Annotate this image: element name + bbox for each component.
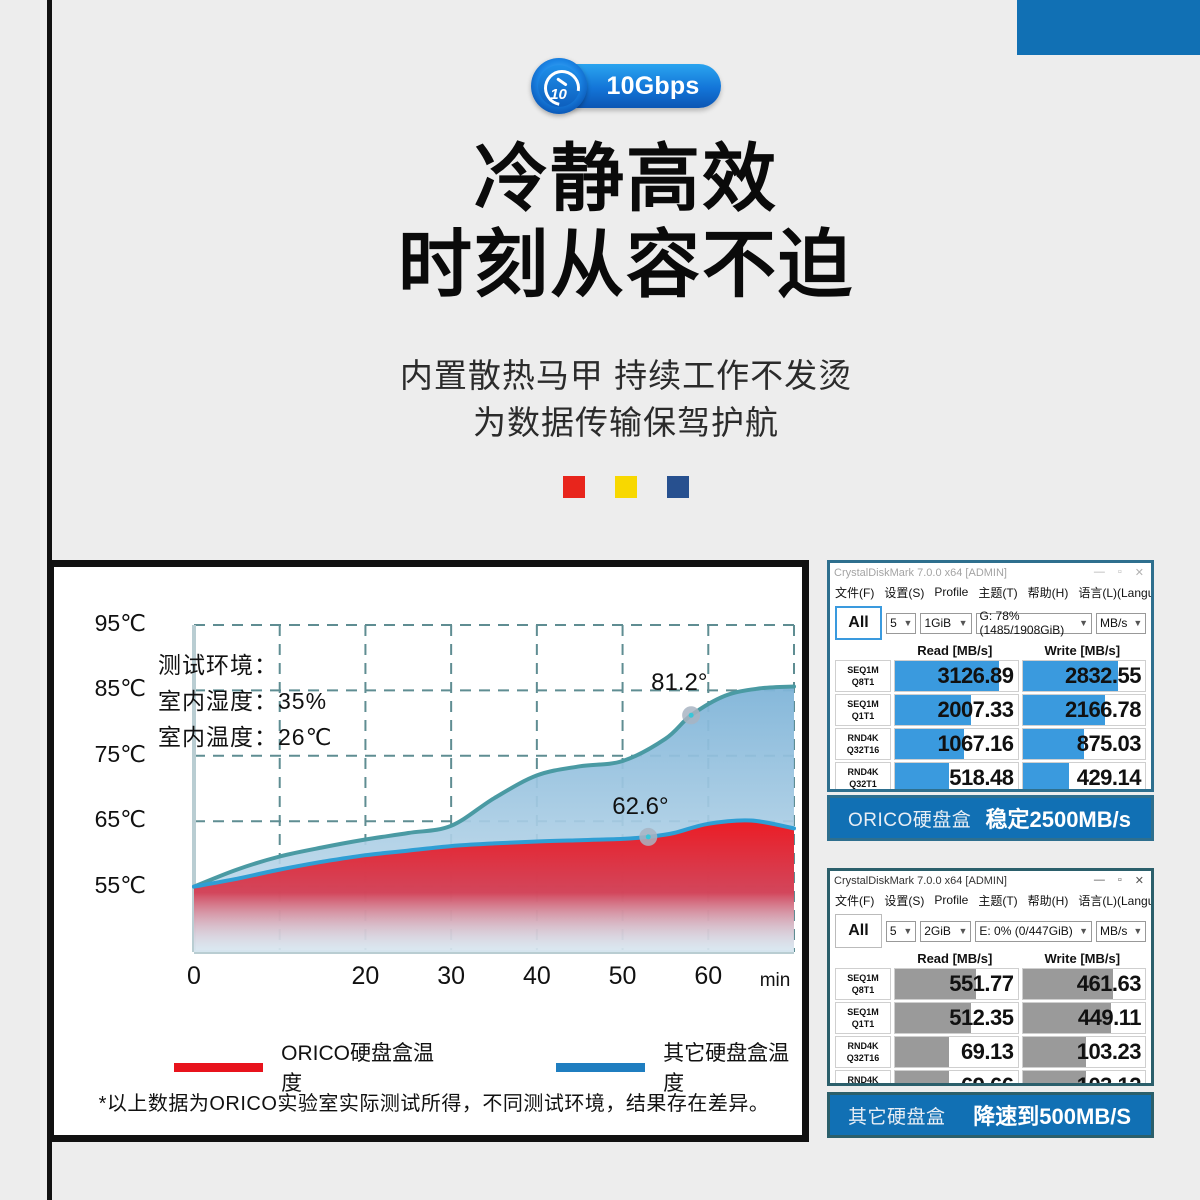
result-bar bbox=[895, 763, 949, 792]
write-result-cell[interactable]: 461.63 bbox=[1022, 968, 1147, 1000]
row-label-bottom: Q8T1 bbox=[852, 676, 875, 688]
read-value: 518.48 bbox=[949, 763, 1013, 792]
badge-number: 10 bbox=[538, 65, 580, 107]
row-label-top: SEQ1M bbox=[847, 972, 879, 984]
chevron-down-icon: ▼ bbox=[1133, 618, 1142, 628]
result-banner-1: ORICO硬盘盒稳定2500MB/s bbox=[827, 795, 1154, 841]
result-bar bbox=[1023, 763, 1070, 792]
column-header-read: Read [MB/s] bbox=[891, 951, 1019, 966]
swatch-yellow bbox=[615, 476, 637, 498]
x-axis-unit: min bbox=[760, 970, 791, 992]
chevron-down-icon: ▼ bbox=[959, 618, 968, 628]
menu-item-2[interactable]: Profile bbox=[934, 893, 968, 907]
unit-select[interactable]: MB/s▼ bbox=[1096, 613, 1146, 634]
benchmark-row: SEQ1MQ8T1551.77461.63 bbox=[835, 968, 1146, 1000]
row-label-top: RND4K bbox=[847, 732, 878, 744]
write-result-cell[interactable]: 2166.78 bbox=[1022, 694, 1147, 726]
write-value: 103.23 bbox=[1077, 1037, 1141, 1067]
row-label-bottom: Q32T1 bbox=[849, 778, 877, 790]
menu-item-0[interactable]: 文件(F) bbox=[835, 892, 874, 909]
test-environment-note: 测试环境： 室内湿度：35% 室内温度：26℃ bbox=[158, 647, 332, 755]
size-select[interactable]: 1GiB▼ bbox=[920, 613, 971, 634]
header-spacer bbox=[835, 643, 891, 658]
chevron-down-icon: ▼ bbox=[904, 618, 913, 628]
window-body: All5▼2GiB▼E: 0% (0/447GiB)▼MB/s▼Read [MB… bbox=[830, 910, 1151, 1086]
subtitle-line-1: 内置散热马甲 持续工作不发烫 bbox=[52, 352, 1200, 399]
banner-left-label: 其它硬盘盒 bbox=[848, 1102, 946, 1129]
read-value: 512.35 bbox=[949, 1003, 1013, 1033]
x-tick-50: 50 bbox=[593, 962, 653, 991]
read-result-cell[interactable]: 518.48 bbox=[894, 762, 1019, 792]
header-spacer bbox=[835, 951, 891, 966]
menu-item-5[interactable]: 语言(L)(Language) bbox=[1078, 892, 1154, 909]
benchmark-row: RND4KQ32T1669.13103.23 bbox=[835, 1036, 1146, 1068]
speed-badge: 10 10Gbps bbox=[531, 58, 722, 114]
write-value: 461.63 bbox=[1077, 969, 1141, 999]
write-result-cell[interactable]: 429.14 bbox=[1022, 762, 1147, 792]
menu-item-4[interactable]: 帮助(H) bbox=[1028, 892, 1069, 909]
row-label-bottom: Q32T16 bbox=[847, 744, 880, 756]
x-tick-30: 30 bbox=[421, 962, 481, 991]
count-select[interactable]: 5▼ bbox=[886, 921, 916, 942]
write-value: 429.14 bbox=[1077, 763, 1141, 792]
read-result-cell[interactable]: 1067.16 bbox=[894, 728, 1019, 760]
unit-select-value: MB/s bbox=[1100, 616, 1127, 630]
speed-badge-label: 10Gbps bbox=[607, 72, 700, 101]
read-value: 3126.89 bbox=[937, 661, 1013, 691]
write-result-cell[interactable]: 2832.55 bbox=[1022, 660, 1147, 692]
size-select[interactable]: 2GiB▼ bbox=[920, 921, 971, 942]
chevron-down-icon: ▼ bbox=[1133, 926, 1142, 936]
row-label: RND4KQ32T1 bbox=[835, 762, 891, 792]
write-result-cell[interactable]: 103.12 bbox=[1022, 1070, 1147, 1086]
read-result-cell[interactable]: 551.77 bbox=[894, 968, 1019, 1000]
result-bar bbox=[895, 1037, 949, 1067]
headline-line-1: 冷静高效 bbox=[52, 136, 1200, 222]
menu-item-1[interactable]: 设置(S) bbox=[884, 584, 924, 601]
read-result-cell[interactable]: 2007.33 bbox=[894, 694, 1019, 726]
row-label: RND4KQ32T1 bbox=[835, 1070, 891, 1086]
benchmark-row: RND4KQ32T161067.16875.03 bbox=[835, 728, 1146, 760]
count-select-value: 5 bbox=[890, 616, 897, 630]
data-label-orico: 62.6° bbox=[612, 793, 668, 821]
all-button[interactable]: All bbox=[835, 606, 882, 640]
row-label: SEQ1MQ8T1 bbox=[835, 660, 891, 692]
x-tick-60: 60 bbox=[678, 962, 738, 991]
row-label-top: SEQ1M bbox=[847, 698, 879, 710]
benchmark-row: SEQ1MQ1T12007.332166.78 bbox=[835, 694, 1146, 726]
legend-swatch bbox=[556, 1063, 645, 1072]
speed-badge-wrap: 10 10Gbps bbox=[52, 58, 1200, 114]
page-title: 冷静高效 时刻从容不迫 bbox=[52, 136, 1200, 308]
count-select-value: 5 bbox=[890, 924, 897, 938]
benchmark-row: RND4KQ32T169.66103.12 bbox=[835, 1070, 1146, 1086]
chevron-down-icon: ▼ bbox=[903, 926, 912, 936]
read-result-cell[interactable]: 69.66 bbox=[894, 1070, 1019, 1086]
benchmark-row: SEQ1MQ1T1512.35449.11 bbox=[835, 1002, 1146, 1034]
column-header-write: Write [MB/s] bbox=[1019, 951, 1147, 966]
color-swatches bbox=[52, 476, 1200, 498]
read-value: 551.77 bbox=[949, 969, 1013, 999]
row-label-top: RND4K bbox=[847, 1074, 878, 1086]
drive-select-value: G: 78% (1485/1908GiB) bbox=[980, 609, 1074, 637]
column-headers: Read [MB/s]Write [MB/s] bbox=[835, 951, 1146, 966]
swatch-blue bbox=[667, 476, 689, 498]
write-value: 2832.55 bbox=[1065, 661, 1141, 691]
row-label-top: SEQ1M bbox=[847, 664, 879, 676]
row-label-top: RND4K bbox=[847, 766, 878, 778]
chart-footnote: *以上数据为ORICO实验室实际测试所得，不同测试环境，结果存在差异。 bbox=[74, 1087, 794, 1116]
minimize-button[interactable]: — bbox=[1094, 874, 1105, 887]
chevron-down-icon: ▼ bbox=[1079, 926, 1088, 936]
row-label-bottom: Q32T16 bbox=[847, 1052, 880, 1064]
row-label-bottom: Q8T1 bbox=[852, 984, 875, 996]
size-select-value: 2GiB bbox=[924, 924, 951, 938]
chart-inner: 95℃85℃75℃65℃55℃ 测试环境： 室内湿度：35% 室内温度：26℃ … bbox=[54, 567, 802, 1135]
read-value: 1067.16 bbox=[937, 729, 1013, 759]
unit-select[interactable]: MB/s▼ bbox=[1096, 921, 1146, 942]
write-result-cell[interactable]: 449.11 bbox=[1022, 1002, 1147, 1034]
menu-item-5[interactable]: 语言(L)(Language) bbox=[1078, 584, 1154, 601]
row-label: SEQ1MQ1T1 bbox=[835, 1002, 891, 1034]
row-label-top: SEQ1M bbox=[847, 1006, 879, 1018]
window-body: All5▼1GiB▼G: 78% (1485/1908GiB)▼MB/s▼Rea… bbox=[830, 602, 1151, 792]
result-bar bbox=[1023, 729, 1084, 759]
minimize-button[interactable]: — bbox=[1094, 566, 1105, 579]
benchmark-row: SEQ1MQ8T13126.892832.55 bbox=[835, 660, 1146, 692]
note-line-2: 室内湿度：35% bbox=[158, 683, 332, 719]
note-line-1: 测试环境： bbox=[158, 647, 332, 683]
all-button[interactable]: All bbox=[835, 914, 882, 948]
page-subtitle: 内置散热马甲 持续工作不发烫 为数据传输保驾护航 bbox=[52, 352, 1200, 446]
x-tick-20: 20 bbox=[335, 962, 395, 991]
speedometer-icon: 10 bbox=[531, 58, 587, 114]
menu-item-3[interactable]: 主题(T) bbox=[978, 584, 1017, 601]
window-title-bar[interactable]: CrystalDiskMark 7.0.0 x64 [ADMIN]—▫✕ bbox=[830, 871, 1151, 890]
count-select[interactable]: 5▼ bbox=[886, 613, 916, 634]
maximize-button[interactable]: ▫ bbox=[1118, 874, 1122, 887]
write-value: 2166.78 bbox=[1065, 695, 1141, 725]
crystaldiskmark-window-1[interactable]: CrystalDiskMark 7.0.0 x64 [ADMIN]—▫✕文件(F… bbox=[827, 560, 1154, 792]
drive-select-value: E: 0% (0/447GiB) bbox=[979, 924, 1072, 938]
chart-plot bbox=[54, 567, 802, 987]
swatch-red bbox=[563, 476, 585, 498]
headline-line-2: 时刻从容不迫 bbox=[52, 222, 1200, 308]
row-label-bottom: Q1T1 bbox=[852, 1018, 875, 1030]
result-banner-2: 其它硬盘盒降速到500MB/S bbox=[827, 1092, 1154, 1138]
column-header-write: Write [MB/s] bbox=[1019, 643, 1147, 658]
row-label-bottom: Q1T1 bbox=[852, 710, 875, 722]
chevron-down-icon: ▼ bbox=[1079, 618, 1088, 628]
close-button[interactable]: ✕ bbox=[1135, 874, 1144, 887]
crystaldiskmark-window-2[interactable]: CrystalDiskMark 7.0.0 x64 [ADMIN]—▫✕文件(F… bbox=[827, 868, 1154, 1086]
size-select-value: 1GiB bbox=[924, 616, 951, 630]
close-button[interactable]: ✕ bbox=[1135, 566, 1144, 579]
benchmark-row: RND4KQ32T1518.48429.14 bbox=[835, 762, 1146, 792]
read-result-cell[interactable]: 3126.89 bbox=[894, 660, 1019, 692]
write-result-cell[interactable]: 875.03 bbox=[1022, 728, 1147, 760]
banner-accent-dot bbox=[1103, 801, 1137, 835]
row-label: SEQ1MQ1T1 bbox=[835, 694, 891, 726]
read-value: 69.66 bbox=[961, 1071, 1014, 1086]
window-title: CrystalDiskMark 7.0.0 x64 [ADMIN] bbox=[834, 567, 1094, 579]
chevron-down-icon: ▼ bbox=[958, 926, 967, 936]
column-headers: Read [MB/s]Write [MB/s] bbox=[835, 643, 1146, 658]
result-bar bbox=[895, 1071, 949, 1086]
write-value: 449.11 bbox=[1078, 1003, 1141, 1033]
write-value: 875.03 bbox=[1077, 729, 1141, 759]
legend-swatch bbox=[174, 1063, 263, 1072]
controls-row: All5▼1GiB▼G: 78% (1485/1908GiB)▼MB/s▼ bbox=[835, 606, 1146, 640]
x-tick-0: 0 bbox=[164, 962, 224, 991]
x-tick-40: 40 bbox=[507, 962, 567, 991]
drive-select[interactable]: G: 78% (1485/1908GiB)▼ bbox=[976, 613, 1093, 634]
read-result-cell[interactable]: 512.35 bbox=[894, 1002, 1019, 1034]
subtitle-line-2: 为数据传输保驾护航 bbox=[52, 399, 1200, 446]
banner-right-label: 降速到500MB/S bbox=[973, 1099, 1131, 1131]
banner-right-label: 稳定2500MB/s bbox=[985, 802, 1131, 834]
read-result-cell[interactable]: 69.13 bbox=[894, 1036, 1019, 1068]
temperature-chart-panel: 95℃85℃75℃65℃55℃ 测试环境： 室内湿度：35% 室内温度：26℃ … bbox=[47, 560, 809, 1142]
menu-item-3[interactable]: 主题(T) bbox=[978, 892, 1017, 909]
data-label-other: 81.2° bbox=[651, 669, 707, 697]
row-label: SEQ1MQ8T1 bbox=[835, 968, 891, 1000]
menu-item-4[interactable]: 帮助(H) bbox=[1028, 584, 1069, 601]
menu-item-0[interactable]: 文件(F) bbox=[835, 584, 874, 601]
window-title-bar[interactable]: CrystalDiskMark 7.0.0 x64 [ADMIN]—▫✕ bbox=[830, 563, 1151, 582]
drive-select[interactable]: E: 0% (0/447GiB)▼ bbox=[975, 921, 1092, 942]
banner-left-label: ORICO硬盘盒 bbox=[848, 805, 971, 832]
controls-row: All5▼2GiB▼E: 0% (0/447GiB)▼MB/s▼ bbox=[835, 914, 1146, 948]
menu-bar[interactable]: 文件(F)设置(S)Profile主题(T)帮助(H)语言(L)(Languag… bbox=[830, 582, 1151, 602]
menu-bar[interactable]: 文件(F)设置(S)Profile主题(T)帮助(H)语言(L)(Languag… bbox=[830, 890, 1151, 910]
write-result-cell[interactable]: 103.23 bbox=[1022, 1036, 1147, 1068]
hero-section: 10 10Gbps 冷静高效 时刻从容不迫 内置散热马甲 持续工作不发烫 为数据… bbox=[52, 0, 1200, 560]
maximize-button[interactable]: ▫ bbox=[1118, 566, 1122, 579]
note-line-3: 室内温度：26℃ bbox=[158, 719, 332, 755]
row-label-top: RND4K bbox=[847, 1040, 878, 1052]
menu-item-1[interactable]: 设置(S) bbox=[884, 892, 924, 909]
read-value: 69.13 bbox=[961, 1037, 1014, 1067]
row-label: RND4KQ32T16 bbox=[835, 1036, 891, 1068]
banner-accent-dot bbox=[1103, 1098, 1137, 1132]
window-title: CrystalDiskMark 7.0.0 x64 [ADMIN] bbox=[834, 875, 1094, 887]
menu-item-2[interactable]: Profile bbox=[934, 585, 968, 599]
unit-select-value: MB/s bbox=[1100, 924, 1127, 938]
row-label: RND4KQ32T16 bbox=[835, 728, 891, 760]
column-header-read: Read [MB/s] bbox=[891, 643, 1019, 658]
promo-page: 10 10Gbps 冷静高效 时刻从容不迫 内置散热马甲 持续工作不发烫 为数据… bbox=[0, 0, 1200, 1200]
read-value: 2007.33 bbox=[937, 695, 1013, 725]
write-value: 103.12 bbox=[1077, 1071, 1141, 1086]
